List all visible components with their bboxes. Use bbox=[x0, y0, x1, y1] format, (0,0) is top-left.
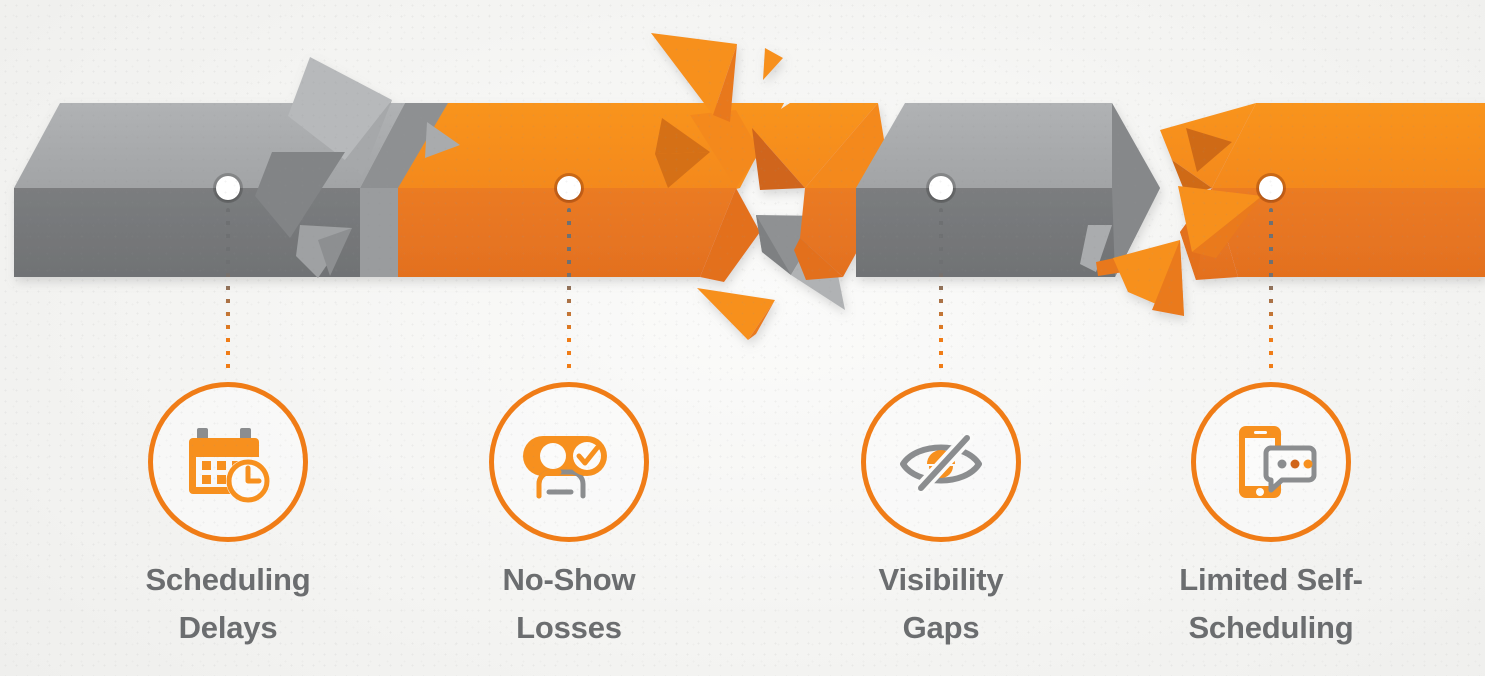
node-dot bbox=[557, 176, 581, 200]
badge-limited-self-scheduling[interactable] bbox=[1191, 382, 1351, 542]
node-caption: Visibility Gaps bbox=[781, 556, 1101, 653]
dotted-connector bbox=[567, 208, 571, 373]
eye-slash-icon bbox=[893, 414, 989, 510]
dotted-connector bbox=[226, 208, 230, 373]
node-caption: Limited Self- Scheduling bbox=[1111, 556, 1431, 653]
calendar-clock-icon bbox=[180, 414, 276, 510]
node-caption: No-Show Losses bbox=[409, 556, 729, 653]
user-check-icon bbox=[521, 414, 617, 510]
dotted-connector bbox=[939, 208, 943, 373]
node-dot bbox=[1259, 176, 1283, 200]
infographic-canvas: Scheduling Delays No-Show Losses bbox=[0, 0, 1485, 676]
node-dot bbox=[216, 176, 240, 200]
badge-scheduling-delays[interactable] bbox=[148, 382, 308, 542]
dotted-connector bbox=[1269, 208, 1273, 373]
badge-no-show-losses[interactable] bbox=[489, 382, 649, 542]
nodes-layer: Scheduling Delays No-Show Losses bbox=[0, 0, 1485, 676]
badge-visibility-gaps[interactable] bbox=[861, 382, 1021, 542]
node-caption: Scheduling Delays bbox=[68, 556, 388, 653]
node-dot bbox=[929, 176, 953, 200]
phone-chat-icon bbox=[1223, 414, 1319, 510]
